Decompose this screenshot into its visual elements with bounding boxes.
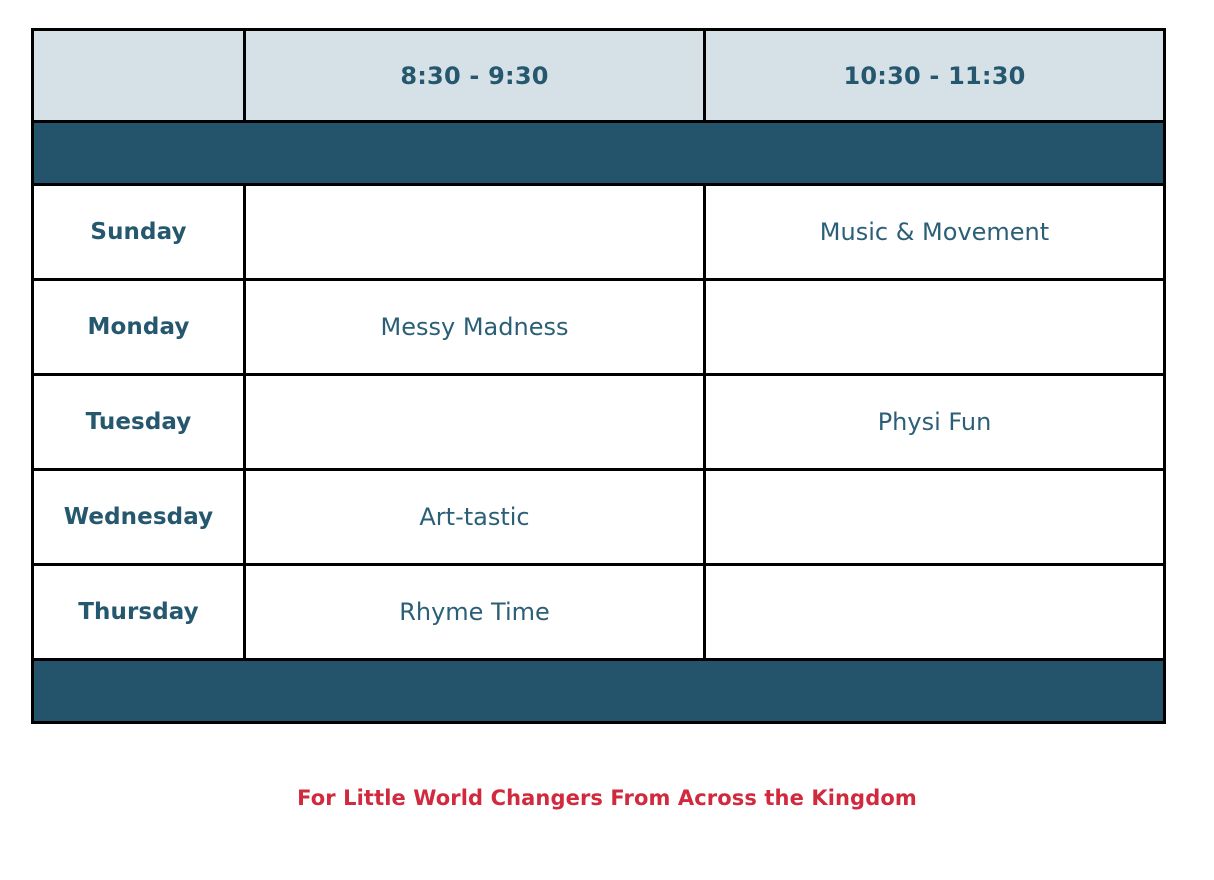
activity-cell-tuesday-slot2: Physi Fun: [705, 375, 1165, 470]
header-corner-cell: [33, 30, 245, 122]
day-label: Tuesday: [86, 409, 192, 435]
day-cell-wednesday: Wednesday: [33, 470, 245, 565]
activity-label: Music & Movement: [820, 218, 1049, 246]
bottom-accent-band-row: [33, 660, 1165, 723]
day-cell-sunday: Sunday: [33, 185, 245, 280]
header-timeslot-2: 10:30 - 11:30: [705, 30, 1165, 122]
footer-caption: For Little World Changers From Across th…: [0, 786, 1214, 810]
activity-label: Art-tastic: [419, 503, 529, 531]
table-row: Wednesday Art-tastic: [33, 470, 1165, 565]
activity-cell-wednesday-slot1: Art-tastic: [245, 470, 705, 565]
top-accent-band-row: [33, 122, 1165, 185]
activity-label: Rhyme Time: [399, 598, 550, 626]
day-label: Sunday: [90, 219, 186, 245]
table-row: Monday Messy Madness: [33, 280, 1165, 375]
activity-cell-monday-slot1: Messy Madness: [245, 280, 705, 375]
activity-cell-thursday-slot2: [705, 565, 1165, 660]
activity-cell-thursday-slot1: Rhyme Time: [245, 565, 705, 660]
day-label: Monday: [88, 314, 190, 340]
table-header-row: 8:30 - 9:30 10:30 - 11:30: [33, 30, 1165, 122]
table-row: Sunday Music & Movement: [33, 185, 1165, 280]
weekly-schedule-table: 8:30 - 9:30 10:30 - 11:30 Sunday Music &…: [31, 28, 1166, 724]
day-cell-monday: Monday: [33, 280, 245, 375]
bottom-accent-band: [33, 660, 1165, 723]
day-label: Thursday: [78, 599, 199, 625]
activity-cell-wednesday-slot2: [705, 470, 1165, 565]
activity-cell-sunday-slot2: Music & Movement: [705, 185, 1165, 280]
activity-label: Messy Madness: [381, 313, 569, 341]
activity-cell-monday-slot2: [705, 280, 1165, 375]
activity-label: Physi Fun: [878, 408, 992, 436]
top-accent-band: [33, 122, 1165, 185]
table-row: Tuesday Physi Fun: [33, 375, 1165, 470]
table-row: Thursday Rhyme Time: [33, 565, 1165, 660]
schedule-page: 8:30 - 9:30 10:30 - 11:30 Sunday Music &…: [0, 0, 1214, 880]
header-timeslot-1: 8:30 - 9:30: [245, 30, 705, 122]
activity-cell-tuesday-slot1: [245, 375, 705, 470]
day-label: Wednesday: [64, 504, 213, 530]
day-cell-thursday: Thursday: [33, 565, 245, 660]
activity-cell-sunday-slot1: [245, 185, 705, 280]
day-cell-tuesday: Tuesday: [33, 375, 245, 470]
